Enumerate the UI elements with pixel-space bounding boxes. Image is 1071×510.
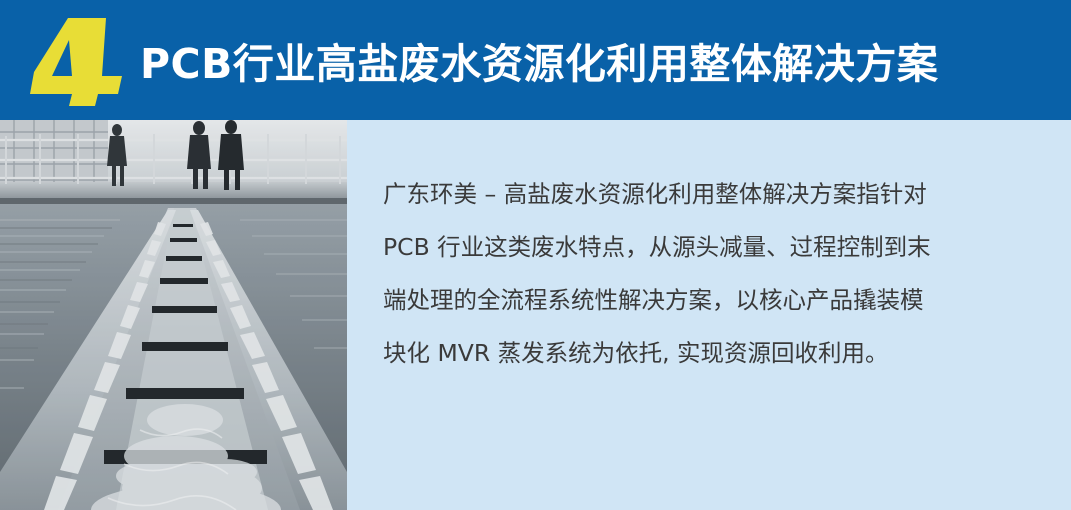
description-line-1: 广东环美 – 高盐废水资源化利用整体解决方案指针对 [383,168,1023,221]
page-title: PCB行业高盐废水资源化利用整体解决方案 [140,30,938,90]
slide-root: PCB行业高盐废水资源化利用整体解决方案 [0,0,1071,510]
photo-panel [0,120,347,510]
header-bar: PCB行业高盐废水资源化利用整体解决方案 [0,0,1071,120]
wastewater-plant-photo [0,120,347,510]
description-line-3: 端处理的全流程系统性解决方案，以核心产品撬装模 [383,274,1023,327]
section-number-4 [28,16,128,108]
description-line-4: 块化 MVR 蒸发系统为依托, 实现资源回收利用。 [383,327,1023,380]
content-row: 广东环美 – 高盐废水资源化利用整体解决方案指针对 PCB 行业这类废水特点，从… [0,120,1071,510]
description-text: 广东环美 – 高盐废水资源化利用整体解决方案指针对 PCB 行业这类废水特点，从… [383,168,1023,380]
description-line-2: PCB 行业这类废水特点，从源头减量、过程控制到末 [383,221,1023,274]
description-panel: 广东环美 – 高盐废水资源化利用整体解决方案指针对 PCB 行业这类废水特点，从… [347,120,1071,510]
